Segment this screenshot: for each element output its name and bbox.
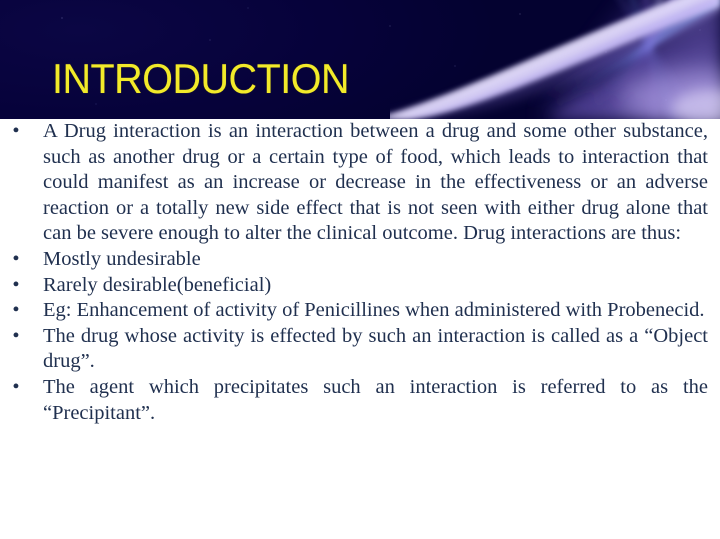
list-item-rarely-desirable: • Rarely desirable(beneficial) xyxy=(43,273,708,299)
list-item-text: A Drug interaction is an interaction bet… xyxy=(43,119,708,247)
list-item-definition: • A Drug interaction is an interaction b… xyxy=(43,119,708,247)
page-title: INTRODUCTION xyxy=(52,55,349,103)
presentation-slide: INTRODUCTION • A Drug interaction is an … xyxy=(0,0,720,539)
bullet-marker-icon: • xyxy=(11,375,21,401)
list-item-text: Mostly undesirable xyxy=(43,247,708,273)
bullet-list: • A Drug interaction is an interaction b… xyxy=(0,119,720,426)
slide-body: • A Drug interaction is an interaction b… xyxy=(0,119,720,539)
list-item-text: The drug whose activity is effected by s… xyxy=(43,324,708,375)
list-item-text: Eg: Enhancement of activity of Penicilli… xyxy=(43,298,708,324)
list-item-object-drug: • The drug whose activity is effected by… xyxy=(43,324,708,375)
slide-header-banner: INTRODUCTION xyxy=(0,0,720,119)
list-item-mostly-undesirable: • Mostly undesirable xyxy=(43,247,708,273)
bullet-marker-icon: • xyxy=(11,273,21,299)
list-item-precipitant: • The agent which precipitates such an i… xyxy=(43,375,708,426)
aurora-graphic xyxy=(390,0,720,119)
bullet-marker-icon: • xyxy=(11,298,21,324)
bullet-marker-icon: • xyxy=(11,247,21,273)
list-item-text: The agent which precipitates such an int… xyxy=(43,375,708,426)
list-item-example-penicillines: • Eg: Enhancement of activity of Penicil… xyxy=(43,298,708,324)
list-item-text: Rarely desirable(beneficial) xyxy=(43,273,708,299)
bullet-marker-icon: • xyxy=(11,324,21,350)
bullet-marker-icon: • xyxy=(11,119,21,145)
